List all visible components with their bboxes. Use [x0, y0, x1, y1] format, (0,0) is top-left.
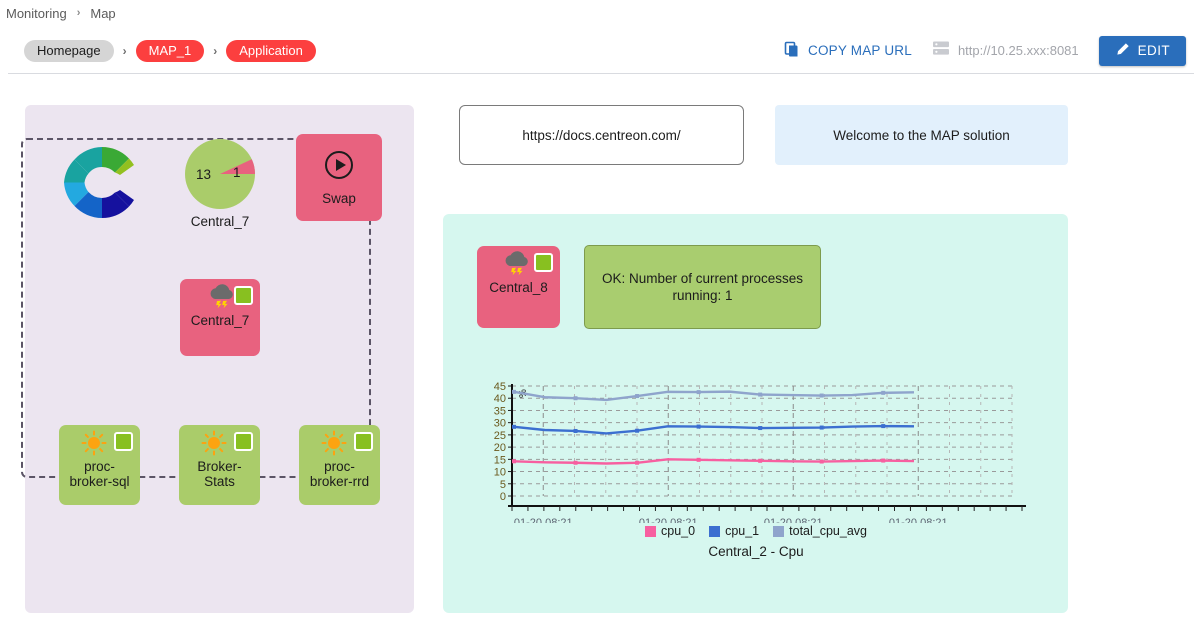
server-icon: [932, 40, 950, 61]
status-badge: [534, 253, 553, 272]
svg-text:40: 40: [494, 393, 506, 405]
sun-icon: [321, 430, 347, 461]
storm-cloud-icon: [501, 250, 533, 283]
map-node-proc-broker-sql[interactable]: proc-broker-sql: [59, 425, 140, 505]
breadcrumb-item-homepage[interactable]: Homepage: [24, 40, 114, 62]
node-icon-row: [179, 425, 260, 459]
legend-label: total_cpu_avg: [789, 524, 867, 538]
node-label: proc-broker-sql: [59, 459, 140, 489]
pie-alert-value: 1: [233, 165, 241, 180]
legend-swatch: [773, 526, 784, 537]
chevron-right-icon: ›: [77, 7, 81, 19]
breadcrumb-item-application[interactable]: Application: [226, 40, 316, 62]
chart-legend: cpu_0 cpu_1 total_cpu_avg: [466, 524, 1046, 538]
legend-label: cpu_0: [661, 524, 695, 538]
svg-text:10: 10: [494, 467, 506, 479]
node-label: proc-broker-rrd: [299, 459, 380, 489]
svg-text:01-20 08:21: 01-20 08:21: [889, 517, 948, 523]
topnav-item-monitoring[interactable]: Monitoring: [6, 6, 67, 21]
node-icon-row: [180, 279, 260, 313]
svg-text:01-20 08:21: 01-20 08:21: [514, 517, 573, 523]
docs-url-widget[interactable]: https://docs.centreon.com/: [459, 105, 744, 165]
svg-text:35: 35: [494, 405, 506, 417]
status-pie-chart[interactable]: 13 1 Central_7: [180, 137, 260, 230]
legend-swatch: [645, 526, 656, 537]
status-badge: [234, 432, 253, 451]
status-badge: [234, 286, 253, 305]
legend-swatch: [709, 526, 720, 537]
breadcrumb: Homepage › MAP_1 › Application: [24, 40, 316, 62]
status-badge: [114, 432, 133, 451]
legend-item-cpu1: cpu_1: [709, 524, 759, 538]
centreon-logo: [60, 141, 144, 224]
chart-canvas: 05101520253035404501-20 08:2101-20 08:21…: [466, 378, 1046, 523]
node-icon-row: [299, 425, 380, 459]
legend-item-cpu0: cpu_0: [645, 524, 695, 538]
node-icon-row: [477, 246, 560, 280]
swap-button-label: Swap: [322, 191, 356, 206]
server-url-display: http://10.25.xxx:8081: [932, 40, 1079, 61]
toolbar-actions: COPY MAP URL http://10.25.xxx:8081 EDIT: [784, 36, 1186, 66]
swap-button[interactable]: Swap: [296, 134, 382, 221]
pie-chart-label: Central_7: [180, 214, 260, 229]
map-node-broker-stats[interactable]: Broker-Stats: [179, 425, 260, 505]
pencil-icon: [1115, 42, 1130, 60]
breadcrumb-item-map1[interactable]: MAP_1: [136, 40, 205, 62]
map-node-central8[interactable]: Central_8: [477, 246, 560, 328]
cpu-chart[interactable]: 05101520253035404501-20 08:2101-20 08:21…: [466, 378, 1046, 558]
sun-icon: [81, 430, 107, 461]
status-message-widget: OK: Number of current processes running:…: [584, 245, 821, 329]
node-label: Broker-Stats: [179, 459, 260, 489]
chevron-right-icon: ›: [213, 44, 217, 58]
chart-title: Central_2 - Cpu: [466, 544, 1046, 559]
topnav-item-map[interactable]: Map: [90, 6, 115, 21]
svg-text:30: 30: [494, 418, 506, 430]
edit-label: EDIT: [1138, 43, 1170, 58]
svg-text:01-20 08:21: 01-20 08:21: [764, 517, 823, 523]
status-badge: [354, 432, 373, 451]
svg-text:15: 15: [494, 454, 506, 466]
map-toolbar: Homepage › MAP_1 › Application COPY MAP …: [8, 28, 1194, 74]
edit-button[interactable]: EDIT: [1099, 36, 1186, 66]
map-node-proc-broker-rrd[interactable]: proc-broker-rrd: [299, 425, 380, 505]
server-url-text: http://10.25.xxx:8081: [958, 43, 1079, 58]
top-navigation: Monitoring › Map: [0, 0, 1202, 26]
play-circle-icon: [324, 150, 354, 185]
pie-ok-value: 13: [196, 167, 211, 182]
copy-icon: [784, 41, 801, 61]
svg-text:5: 5: [500, 479, 506, 491]
sun-icon: [201, 430, 227, 461]
copy-map-url-label: COPY MAP URL: [808, 43, 912, 58]
svg-text:20: 20: [494, 442, 506, 454]
legend-item-total-cpu-avg: total_cpu_avg: [773, 524, 867, 538]
chevron-right-icon: ›: [123, 44, 127, 58]
copy-map-url-button[interactable]: COPY MAP URL: [784, 41, 912, 61]
legend-label: cpu_1: [725, 524, 759, 538]
node-icon-row: [59, 425, 140, 459]
svg-text:45: 45: [494, 381, 506, 393]
svg-text:01-20 08:21: 01-20 08:21: [639, 517, 698, 523]
map-node-central7[interactable]: Central_7: [180, 279, 260, 356]
svg-text:0: 0: [500, 491, 506, 503]
welcome-widget: Welcome to the MAP solution: [775, 105, 1068, 165]
svg-text:25: 25: [494, 430, 506, 442]
